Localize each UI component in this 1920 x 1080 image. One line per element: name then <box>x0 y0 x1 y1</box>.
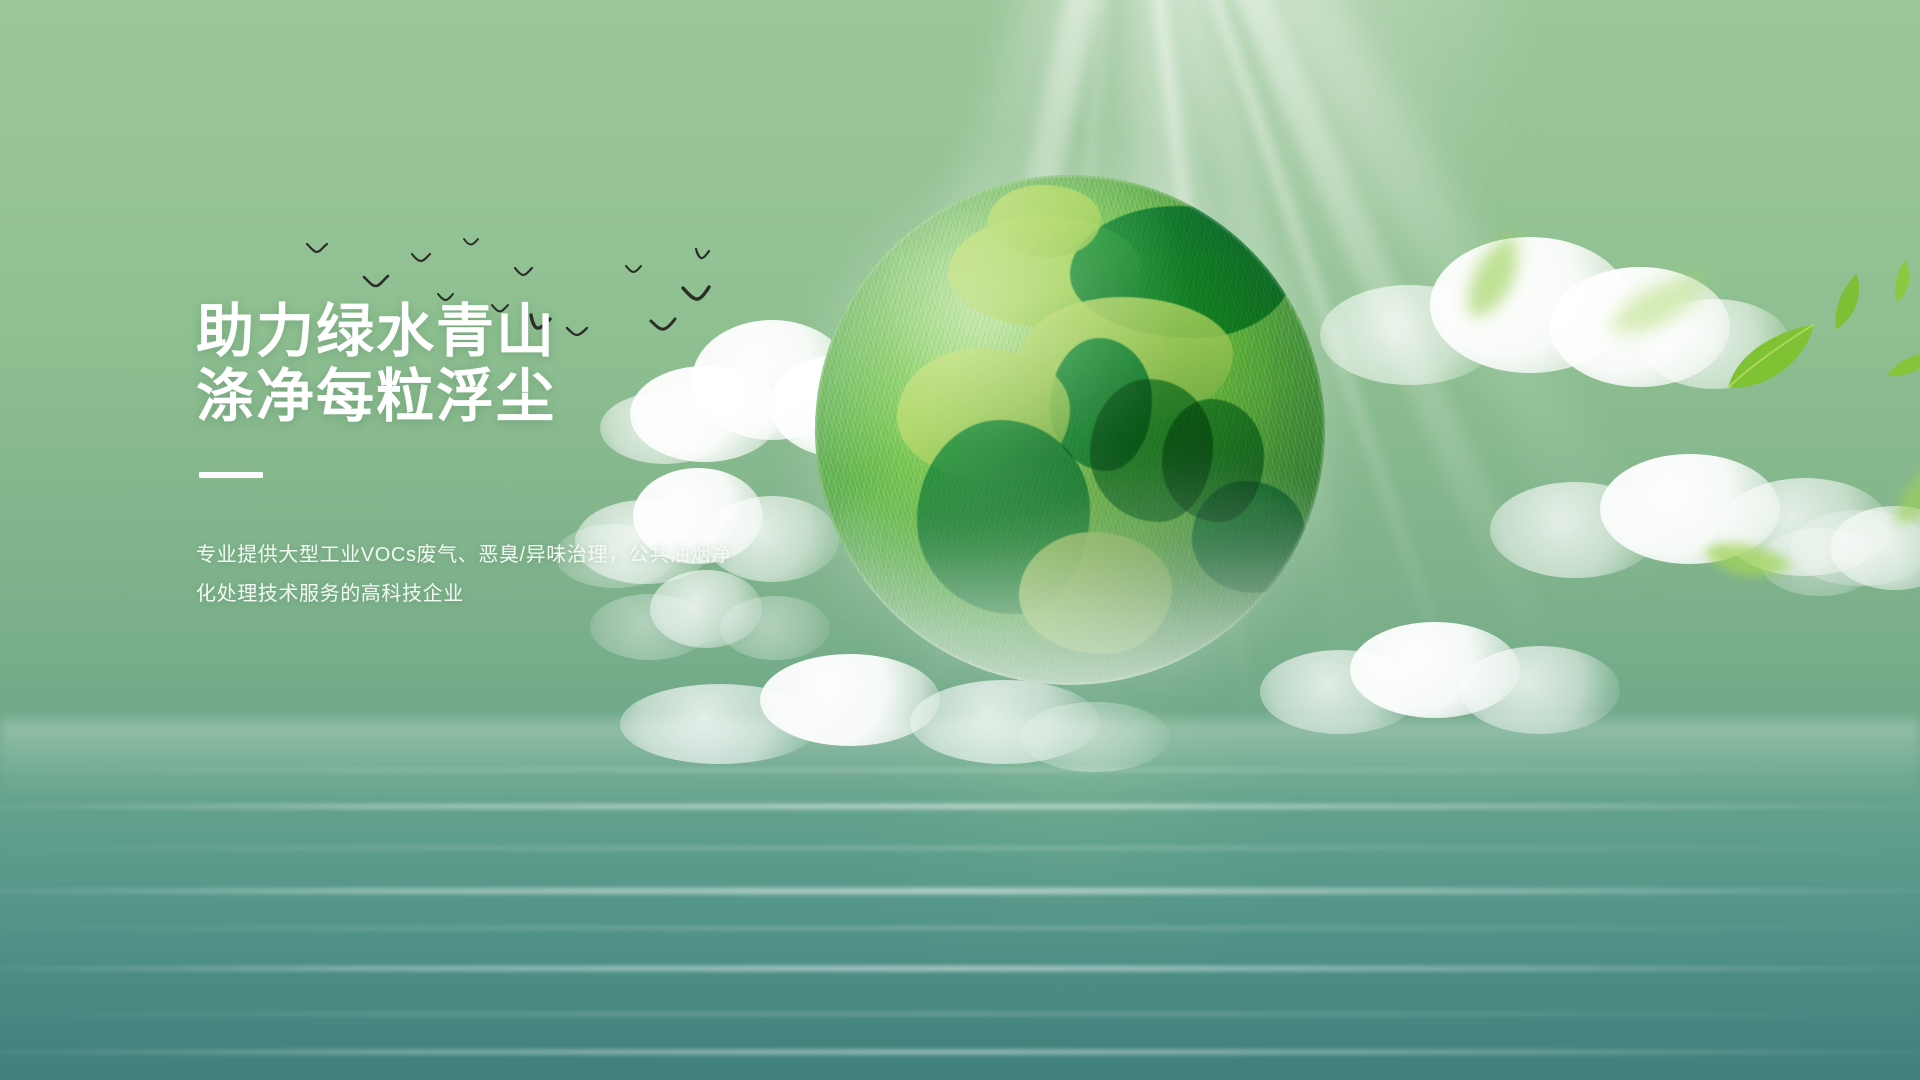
wave-8 <box>0 1050 1920 1054</box>
bird-3 <box>411 253 431 264</box>
wave-7 <box>0 1012 1920 1016</box>
wave-5 <box>0 926 1920 930</box>
leaf-6 <box>1695 523 1796 599</box>
wave-6 <box>0 966 1920 971</box>
hero-banner: 助力绿水青山 涤净每粒浮尘 专业提供大型工业VOCs废气、恶臭/异味治理，公共油… <box>0 0 1920 1080</box>
subtitle-line-2: 化处理技术服务的高科技企业 <box>196 575 736 614</box>
water-horizon-line <box>0 720 1920 810</box>
water-surface <box>0 720 1920 1080</box>
headline-line-1: 助力绿水青山 <box>196 300 836 365</box>
wave-1 <box>0 768 1920 772</box>
leaf-8 <box>1595 268 1724 348</box>
bird-10 <box>625 265 642 275</box>
wave-2 <box>0 804 1920 809</box>
leaf-5 <box>1440 226 1552 334</box>
hero-subtitle: 专业提供大型工业VOCs废气、恶臭/异味治理，公共油烟净 化处理技术服务的高科技… <box>196 536 736 614</box>
earth-globe <box>815 175 1325 685</box>
bird-13 <box>694 248 710 261</box>
subtitle-line-1: 专业提供大型工业VOCs废气、恶臭/异味治理，公共油烟净 <box>196 536 736 575</box>
bird-5 <box>463 238 479 247</box>
cloud-right-mid <box>1490 430 1890 600</box>
globe-rim-light <box>815 175 1325 685</box>
leaf-3 <box>1882 349 1920 383</box>
bird-1 <box>306 243 328 255</box>
bird-7 <box>514 267 533 278</box>
wave-3 <box>0 846 1920 850</box>
globe-sphere <box>815 175 1325 685</box>
page-title: 助力绿水青山 涤净每粒浮尘 <box>196 300 836 430</box>
leaf-4 <box>1885 257 1920 307</box>
wave-4 <box>0 888 1920 894</box>
headline-line-2: 涤净每粒浮尘 <box>196 365 836 430</box>
leaf-7 <box>1876 448 1920 536</box>
title-divider <box>199 472 263 478</box>
hero-copy-block: 助力绿水青山 涤净每粒浮尘 专业提供大型工业VOCs废气、恶臭/异味治理，公共油… <box>196 300 836 614</box>
leaf-1 <box>1713 317 1832 404</box>
bird-2 <box>363 275 389 289</box>
leaf-2 <box>1822 270 1877 336</box>
